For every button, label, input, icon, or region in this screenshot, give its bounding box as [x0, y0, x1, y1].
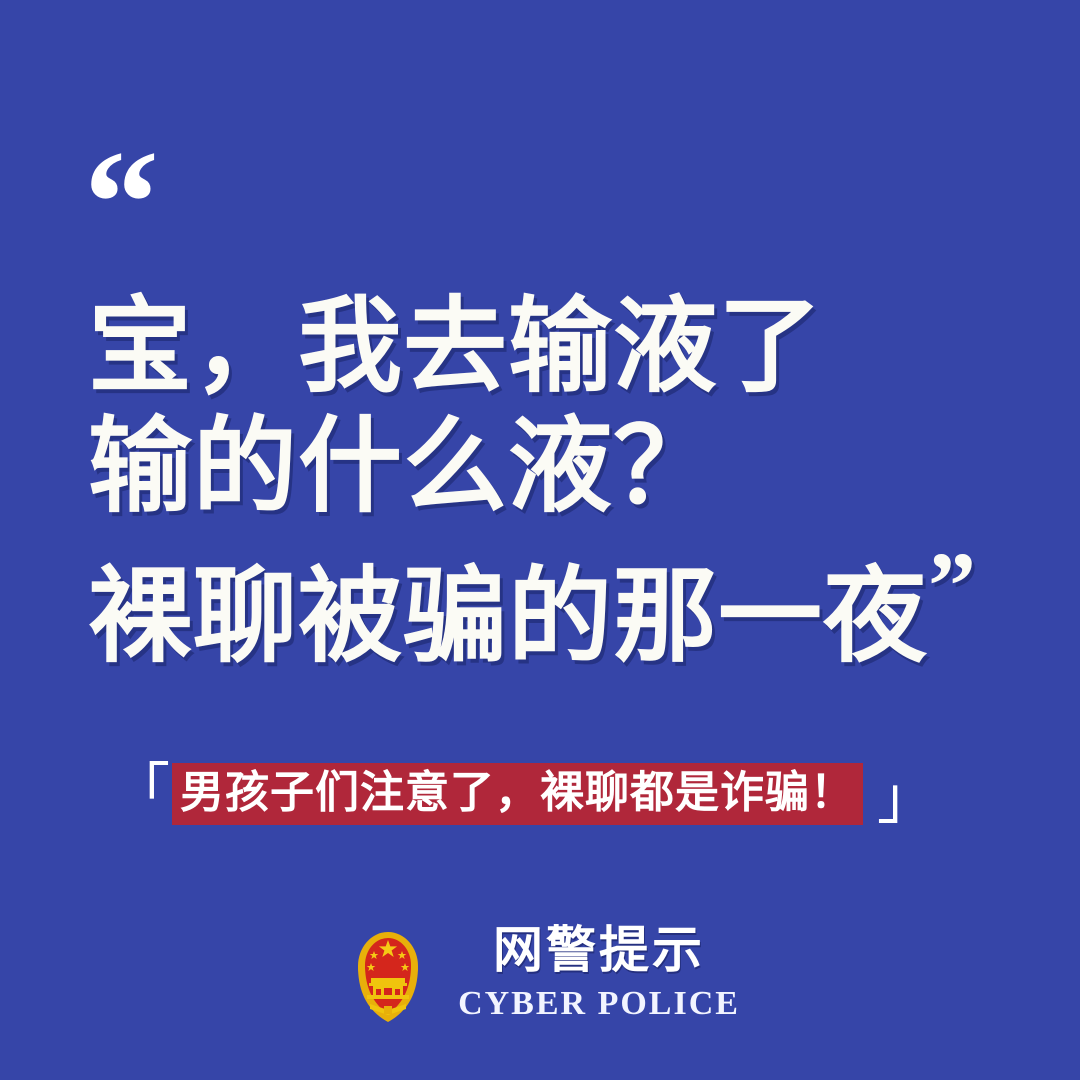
- warning-banner-text: 男孩子们注意了，裸聊都是诈骗！: [172, 763, 863, 825]
- logo-wordmark: 网警提示 CYBER POLICE: [458, 924, 740, 1021]
- bracket-open: 「: [112, 761, 170, 819]
- headline-block: 宝，我去输液了 输的什么液？ 裸聊被骗的那一夜”: [88, 286, 1028, 676]
- bracket-close: 」: [877, 769, 935, 827]
- headline-line-3: 裸聊被骗的那一夜”: [88, 526, 1028, 676]
- headline-line-3-text: 裸聊被骗的那一夜: [88, 555, 928, 677]
- logo-title-cn: 网警提示: [493, 924, 705, 977]
- open-quote-mark: “: [84, 128, 153, 278]
- footer-logo-lockup: 网警提示 CYBER POLICE: [0, 920, 1080, 1024]
- poster-canvas: “ 宝，我去输液了 输的什么液？ 裸聊被骗的那一夜” 「 男孩子们注意了，裸聊都…: [0, 0, 1080, 1080]
- close-quote-mark: ”: [928, 532, 972, 639]
- logo-title-en: CYBER POLICE: [458, 987, 740, 1021]
- china-national-emblem-icon: [340, 920, 436, 1024]
- headline-line-1: 宝，我去输液了: [88, 286, 1028, 406]
- headline-line-2: 输的什么液？: [88, 406, 1028, 526]
- warning-banner: 「 男孩子们注意了，裸聊都是诈骗！ 」: [112, 760, 935, 828]
